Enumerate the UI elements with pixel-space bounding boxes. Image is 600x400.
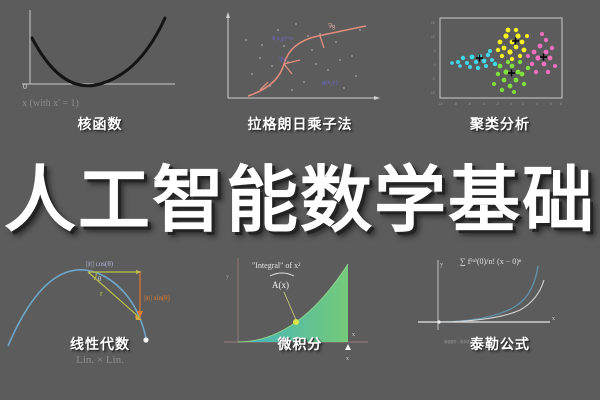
la-label-r: r [100,289,103,298]
taylor-formula: ∑ f⁽ⁿ⁾(0)/n! (x − 0)ⁿ [460,257,522,266]
panel-caption-lagrange: 拉格朗日乘子法 [200,114,400,134]
calculus-area-label: A(x) [272,280,289,290]
la-label-cos: ||r|| cos(θ) [86,260,114,268]
svg-text:0: 0 [510,102,512,106]
poster-root: 0 x (with x' = 1) 核函数 [0,0,600,400]
poster-title: 人工智能数学基础 [4,164,596,236]
taylor-axis-y-label: y [440,262,443,268]
svg-text:-2: -2 [496,102,499,106]
panel-linear-algebra[interactable]: ||r|| cos(θ) ||r|| sin(θ) θ r 线性代数 Lin. … [0,250,200,400]
panel-clustering[interactable]: -10-5 05 1015 -10-8 -6-4 -20 24 68 [400,0,600,150]
lagrange-label-grad: ∇f [279,57,285,64]
svg-text:8: 8 [560,102,562,106]
panel-caption-clustering: 聚类分析 [400,114,600,134]
svg-text:0: 0 [434,63,436,67]
lagrange-label-g: g(x,y) [322,79,338,86]
lagrange-figure: f(x,y)=c g(x,y) ∇f ∇g [200,0,400,118]
poster-title-band: 人工智能数学基础 [0,152,600,248]
la-label-theta: θ [98,275,102,283]
kernel-origin-label: 0 [23,82,27,91]
svg-text:4: 4 [536,102,538,106]
calculus-axis-y-label: y [226,274,229,280]
svg-text:-5: -5 [432,77,435,81]
panel-caption-kernel: 核函数 [0,114,200,134]
calculus-axis-x-tick: x [346,356,349,362]
panel-caption-linear-algebra: 线性代数 [0,334,200,354]
la-label-sin: ||r|| sin(θ) [144,294,171,302]
panel-kernel[interactable]: 0 x (with x' = 1) 核函数 [0,0,200,150]
svg-text:-4: -4 [482,102,485,106]
calculus-title: "Integral" of x² [252,261,301,270]
clustering-figure: -10-5 05 1015 -10-8 -6-4 -20 24 68 [400,0,600,118]
kernel-figure: 0 x (with x' = 1) [0,0,200,118]
taylor-axis-x-label: x [552,316,555,322]
svg-text:-10: -10 [438,102,443,106]
panel-taylor[interactable]: y x ∑ f⁽ⁿ⁾(0)/n! (x − 0)ⁿ 泰勒展开，用多项式逼近函数的… [400,250,600,400]
panel-calculus[interactable]: "Integral" of x² A(x) y x x 微积分 [200,250,400,400]
panel-caption-taylor: 泰勒公式 [400,334,600,354]
panel-row-top: 0 x (with x' = 1) 核函数 [0,0,600,150]
kernel-axis-label: x (with x' = 1) [22,98,79,109]
svg-text:-6: -6 [468,102,471,106]
svg-text:-8: -8 [454,102,457,106]
svg-text:15: 15 [431,21,435,25]
svg-text:2: 2 [522,102,524,106]
lagrange-label-gradg: ∇g [328,23,335,30]
panel-lagrange[interactable]: f(x,y)=c g(x,y) ∇f ∇g 拉格朗日乘子法 [200,0,400,150]
panel-caption-calculus: 微积分 [200,334,400,354]
svg-text:5: 5 [434,49,436,53]
svg-text:-10: -10 [430,91,435,95]
panel-subcaption-linear-algebra: Lin. × Lin. [0,354,200,366]
lagrange-label-f: f(x,y)=c [272,35,293,42]
svg-text:10: 10 [431,35,435,39]
panel-row-bottom: ||r|| cos(θ) ||r|| sin(θ) θ r 线性代数 Lin. … [0,250,600,400]
svg-text:6: 6 [550,102,552,106]
